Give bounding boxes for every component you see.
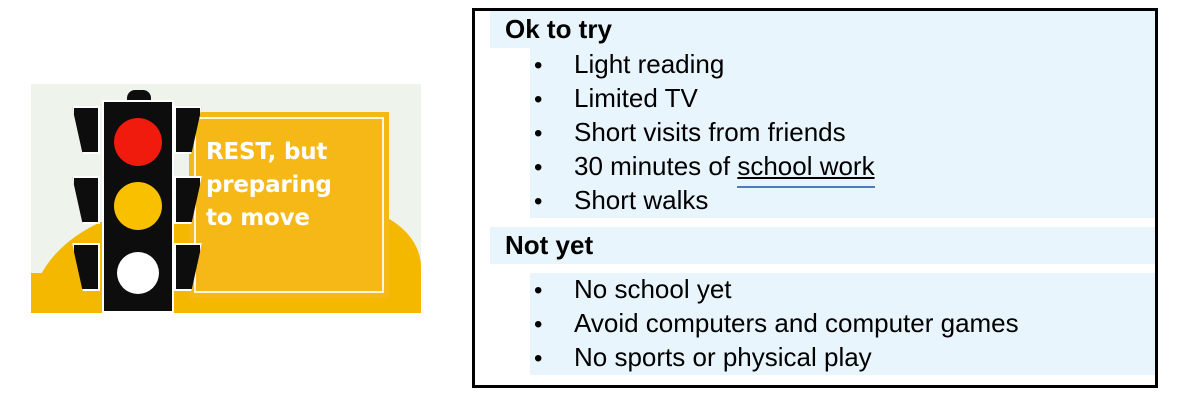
list-item: • Short visits from friends [530, 116, 1155, 150]
caption-text: REST, but preparing to move [206, 136, 381, 235]
list-item-label: Limited TV [574, 82, 1155, 114]
list-item: • No sports or physical play [530, 341, 1155, 375]
ok-to-try-list: • Light reading • Limited TV • Short vis… [475, 48, 1155, 218]
list-item-label: Short walks [574, 184, 1155, 216]
list-item-label: Short visits from friends [574, 116, 1155, 148]
list-item: • Short walks [530, 184, 1155, 218]
section-header-not-yet: Not yet [490, 227, 1155, 264]
bullet-icon: • [530, 343, 574, 375]
not-yet-list: • No school yet • Avoid computers and co… [475, 273, 1155, 375]
caption-box: REST, but preparing to move [189, 112, 389, 298]
list-item: • No school yet [530, 273, 1155, 307]
list-item-label: No sports or physical play [574, 341, 1155, 373]
list-item-label: No school yet [574, 273, 1155, 305]
bullet-icon: • [530, 275, 574, 307]
list-item-label-prefix: 30 minutes of [574, 151, 737, 181]
section-header-ok-to-try: Ok to try [490, 11, 1155, 48]
list-item: • Light reading [530, 48, 1155, 82]
traffic-light-housing [102, 100, 174, 313]
bullet-icon: • [530, 50, 574, 82]
amber-lamp-icon [114, 182, 162, 230]
list-item-label: Light reading [574, 48, 1155, 80]
spellcheck-underlined-text: school work [737, 151, 874, 181]
red-lamp-icon [114, 118, 162, 166]
bullet-icon: • [530, 152, 574, 184]
white-lamp-icon [117, 252, 159, 294]
list-item-label: 30 minutes of school work [574, 150, 1155, 182]
bullet-icon: • [530, 118, 574, 150]
traffic-light-rest-graphic: REST, but preparing to move [31, 84, 421, 313]
list-item: • Avoid computers and computer games [530, 307, 1155, 341]
bullet-icon: • [530, 186, 574, 218]
bullet-icon: • [530, 84, 574, 116]
activity-guidance-card: Ok to try • Light reading • Limited TV •… [472, 8, 1158, 388]
list-item: • Limited TV [530, 82, 1155, 116]
list-item: • 30 minutes of school work [530, 150, 1155, 184]
bullet-icon: • [530, 309, 574, 341]
list-item-label: Avoid computers and computer games [574, 307, 1155, 339]
